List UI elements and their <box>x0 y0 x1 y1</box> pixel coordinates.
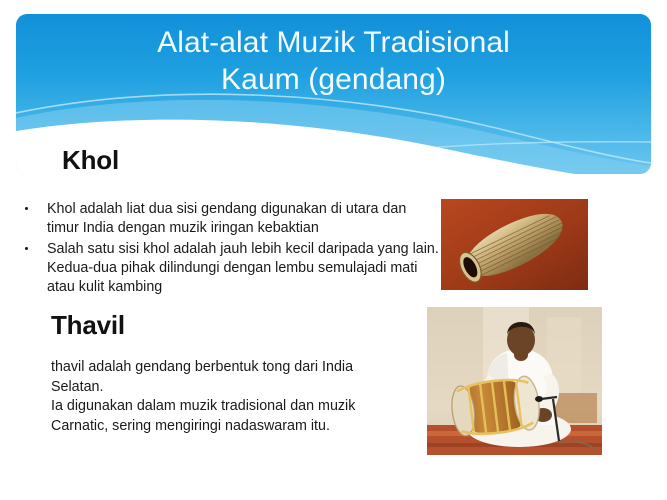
list-item-text: Salah satu sisi khol adalah jauh lebih k… <box>47 241 439 296</box>
bullet-dot-icon <box>25 207 28 210</box>
thavil-player-photo <box>427 307 602 455</box>
list-item: Salah satu sisi khol adalah jauh lebih k… <box>22 240 442 298</box>
thavil-text-block: thavil adalah gendang berbentuk tong dar… <box>51 358 406 436</box>
presentation-slide: Alat-alat Muzik Tradisional Kaum (gendan… <box>0 0 667 500</box>
page-title: Alat-alat Muzik Tradisional Kaum (gendan… <box>16 24 651 98</box>
khol-bullet-list: Khol adalah liat dua sisi gendang diguna… <box>22 200 442 298</box>
list-item: Khol adalah liat dua sisi gendang diguna… <box>22 200 442 239</box>
list-item-text: Khol adalah liat dua sisi gendang diguna… <box>47 201 406 236</box>
khol-drum-photo <box>441 199 588 290</box>
thavil-paragraph: Ia digunakan dalam muzik tradisional dan… <box>51 397 406 436</box>
thavil-paragraph: thavil adalah gendang berbentuk tong dar… <box>51 358 406 397</box>
bullet-dot-icon <box>25 247 28 250</box>
section-heading-thavil: Thavil <box>51 310 125 340</box>
khol-drum-illustration <box>441 199 588 290</box>
thavil-player-illustration <box>427 307 602 455</box>
section-heading-khol: Khol <box>62 145 119 175</box>
